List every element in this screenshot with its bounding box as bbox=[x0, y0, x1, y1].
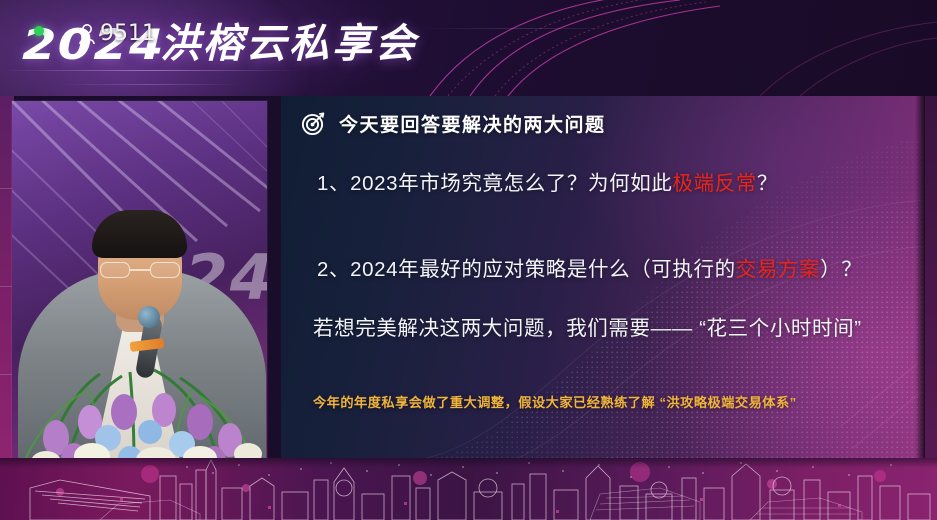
slide-note: 若想完美解决这两大问题，我们需要—— “花三个小时时间” bbox=[313, 311, 862, 341]
event-title: 洪榕云私享会 bbox=[160, 16, 418, 72]
bullet-1-pre: 1、2023年市场究竟怎么了？为何如此 bbox=[317, 172, 672, 195]
speaker-hair bbox=[92, 210, 187, 258]
broadcast-stage: 2024 洪榕云私享会 9511 bbox=[0, 0, 937, 520]
person-icon bbox=[77, 23, 97, 45]
bullet-1-post: ？ bbox=[757, 172, 778, 195]
right-rail bbox=[925, 96, 937, 460]
header-streak bbox=[60, 84, 240, 85]
slide-bullet-1: 1、2023年市场究竟怎么了？为何如此极端反常？ bbox=[317, 166, 778, 196]
flower-bouquet bbox=[12, 326, 267, 460]
microphone-head bbox=[138, 306, 160, 328]
logo-green-dot bbox=[34, 26, 44, 36]
bullet-2-highlight: 交易方案 bbox=[736, 258, 820, 281]
slide-heading: 今天要回答要解决的两大问题 bbox=[301, 110, 606, 137]
header-streak bbox=[420, 28, 630, 29]
slide-footnote: 今年的年度私享会做了重大调整，假设大家已经熟练了解 “洪攻略极端交易体系” bbox=[313, 392, 797, 411]
header-banner: 2024 洪榕云私享会 9511 bbox=[0, 0, 937, 96]
slide-bullet-2: 2、2024年最好的应对策略是什么（可执行的交易方案）？ bbox=[317, 252, 862, 282]
bullet-2-post: ）？ bbox=[820, 258, 862, 281]
speaker-video-panel[interactable]: 024 bbox=[12, 101, 267, 460]
skyline-top-fade bbox=[0, 458, 937, 468]
slide-heading-text: 今天要回答要解决的两大问题 bbox=[339, 110, 606, 137]
speaker-glasses bbox=[100, 262, 180, 278]
city-skyline-footer bbox=[0, 458, 937, 520]
target-icon bbox=[301, 111, 326, 136]
viewer-count-badge: 9511 bbox=[77, 22, 156, 46]
bullet-1-highlight: 极端反常 bbox=[672, 172, 756, 195]
slide-right-edge-shadow bbox=[915, 96, 925, 460]
bullet-2-pre: 2、2024年最好的应对策略是什么（可执行的 bbox=[317, 258, 736, 281]
presentation-slide: 今天要回答要解决的两大问题 1、2023年市场究竟怎么了？为何如此极端反常？ 2… bbox=[281, 96, 925, 460]
viewer-count-value: 9511 bbox=[100, 22, 156, 46]
